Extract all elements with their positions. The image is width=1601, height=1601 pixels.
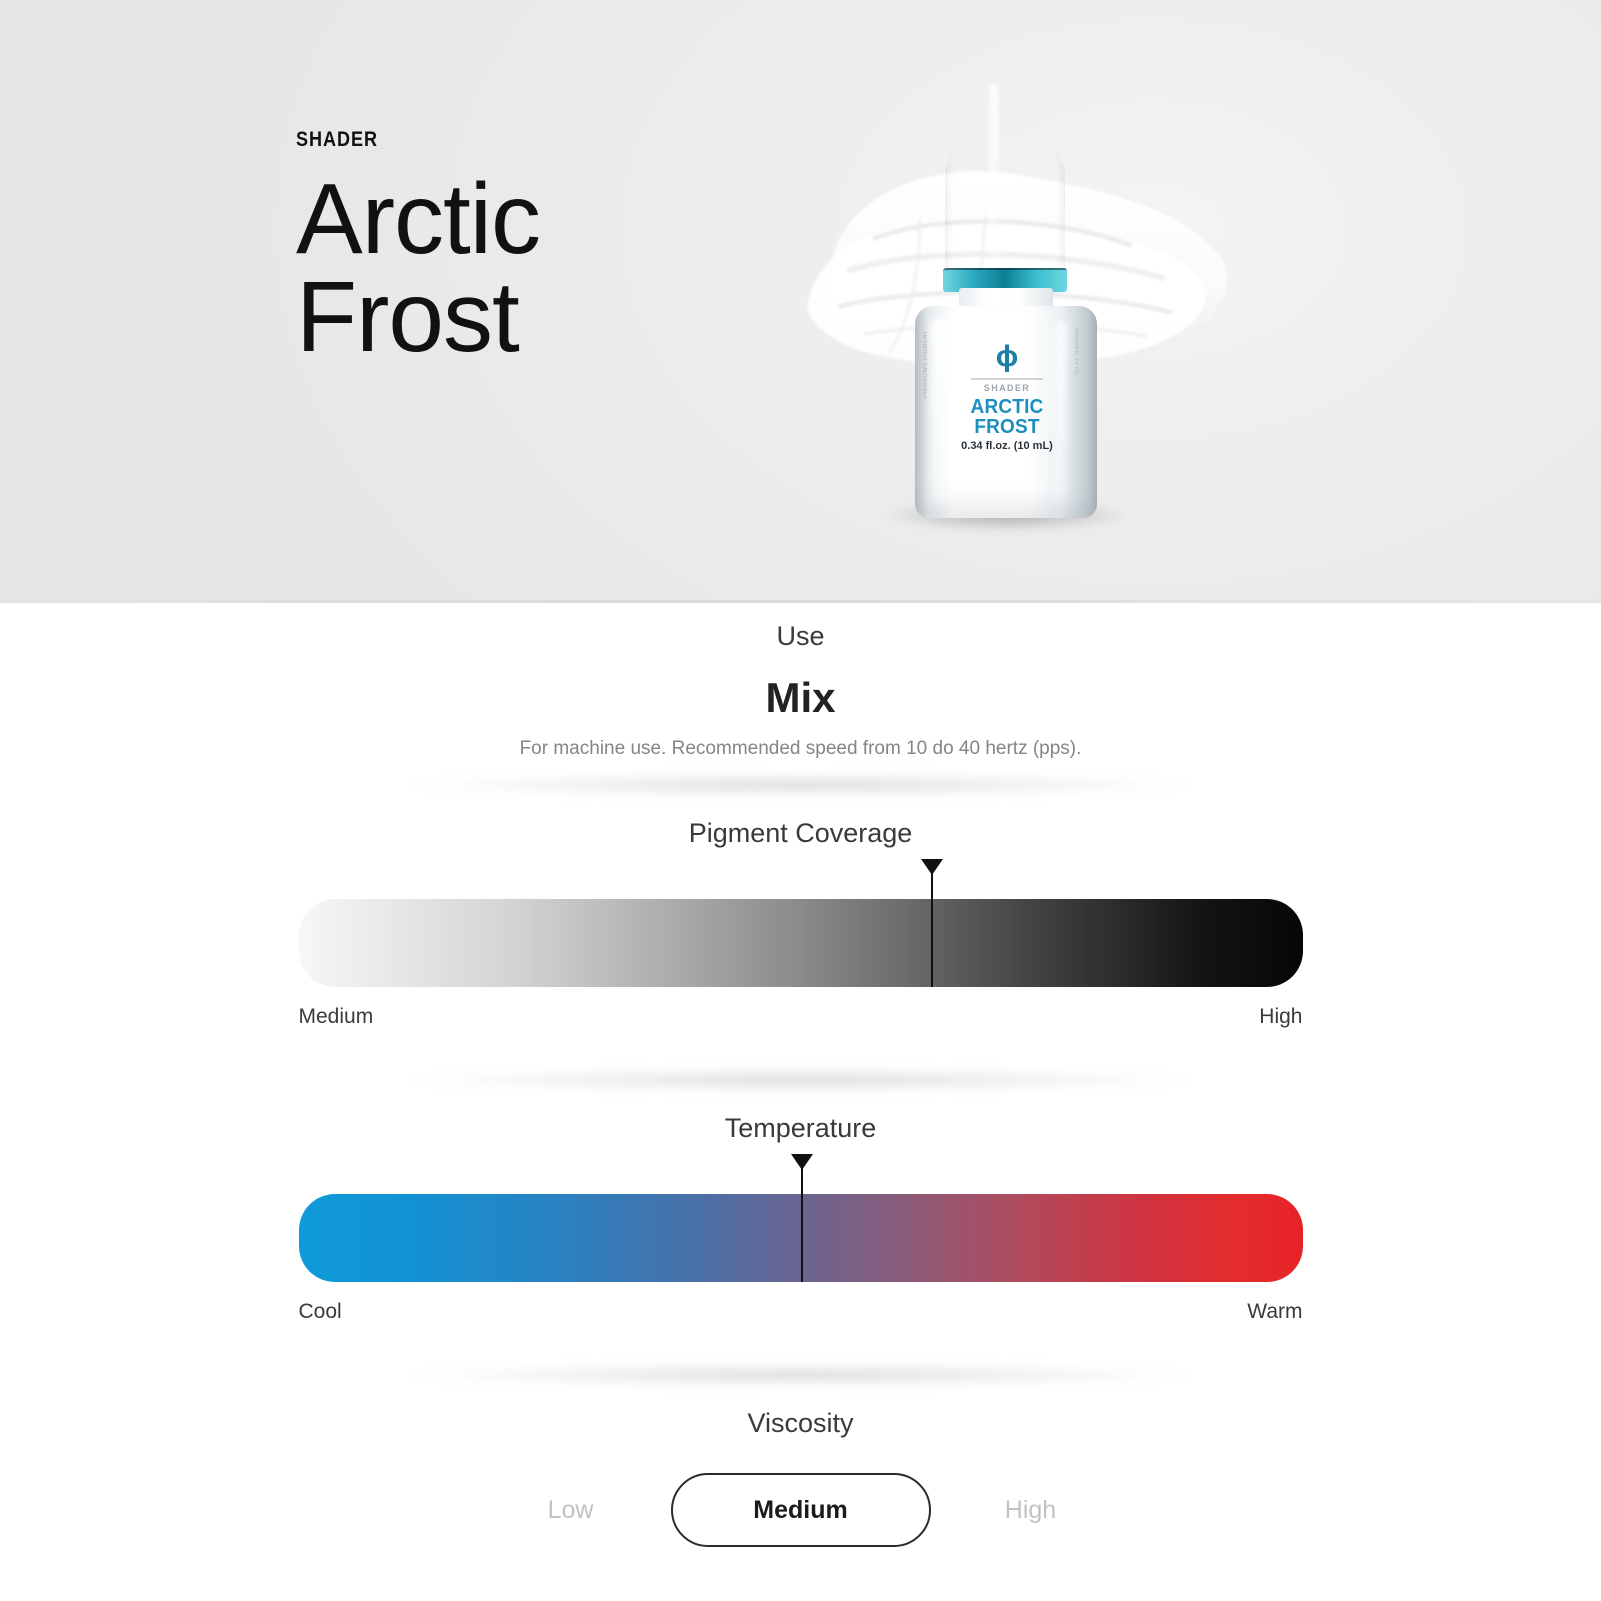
- temperature-label-left: Cool: [299, 1300, 342, 1324]
- section-divider-2: [0, 1055, 1601, 1099]
- product-name-line-2: Frost: [296, 268, 540, 366]
- product-bottle-image: PHIBROWS PIGMENT SHADER 10 mL ϕ SHADER A…: [897, 78, 1117, 528]
- hero-text-group: SHADER Arctic Frost: [296, 128, 540, 366]
- pigment-coverage-labels: Medium High: [299, 1005, 1303, 1029]
- viscosity-title: Viscosity: [0, 1408, 1601, 1439]
- phi-logo-icon: ϕ: [897, 342, 1117, 372]
- label-name-line-2: FROST: [903, 418, 1112, 438]
- use-value: Mix: [0, 674, 1601, 722]
- temperature-title: Temperature: [0, 1113, 1601, 1144]
- pigment-coverage-scale: [299, 899, 1303, 987]
- product-spec-page: SHADER Arctic Frost: [0, 0, 1601, 1601]
- section-divider-3: [0, 1350, 1601, 1394]
- pigment-coverage-title: Pigment Coverage: [0, 818, 1601, 849]
- use-note: For machine use. Recommended speed from …: [0, 738, 1601, 760]
- viscosity-option-medium-selected[interactable]: Medium: [671, 1473, 931, 1547]
- label-product-name: ARCTIC FROST: [897, 398, 1117, 437]
- viscosity-option-high[interactable]: High: [931, 1496, 1131, 1525]
- temperature-section: Temperature Cool Warm: [0, 1113, 1601, 1324]
- viscosity-option-low[interactable]: Low: [471, 1496, 671, 1525]
- temperature-scale: [299, 1194, 1303, 1282]
- product-category-eyebrow: SHADER: [296, 128, 506, 152]
- temperature-labels: Cool Warm: [299, 1300, 1303, 1324]
- cap-highlight: [989, 84, 999, 280]
- pigment-coverage-gradient-bar: [299, 899, 1303, 987]
- page-title: Arctic Frost: [296, 170, 540, 366]
- pigment-coverage-label-right: High: [1259, 1005, 1302, 1029]
- label-volume: 0.34 fl.oz. (10 mL): [897, 440, 1117, 452]
- use-section: Use Mix For machine use. Recommended spe…: [0, 603, 1601, 760]
- bottle-cap: [945, 78, 1065, 286]
- viscosity-options: Low Medium High: [0, 1473, 1601, 1547]
- specifications-panel: Use Mix For machine use. Recommended spe…: [0, 603, 1601, 1547]
- section-divider-1: [0, 760, 1601, 804]
- use-title: Use: [0, 621, 1601, 652]
- hero-banner: SHADER Arctic Frost: [0, 0, 1601, 603]
- label-rule: [971, 378, 1043, 380]
- temperature-label-right: Warm: [1247, 1300, 1302, 1324]
- temperature-marker: [801, 1154, 803, 1282]
- pigment-coverage-section: Pigment Coverage Medium High: [0, 818, 1601, 1029]
- product-name-line-1: Arctic: [296, 163, 540, 275]
- viscosity-section: Viscosity Low Medium High: [0, 1408, 1601, 1547]
- pigment-coverage-label-left: Medium: [299, 1005, 374, 1029]
- pigment-coverage-marker: [931, 859, 933, 987]
- label-category: SHADER: [897, 383, 1117, 393]
